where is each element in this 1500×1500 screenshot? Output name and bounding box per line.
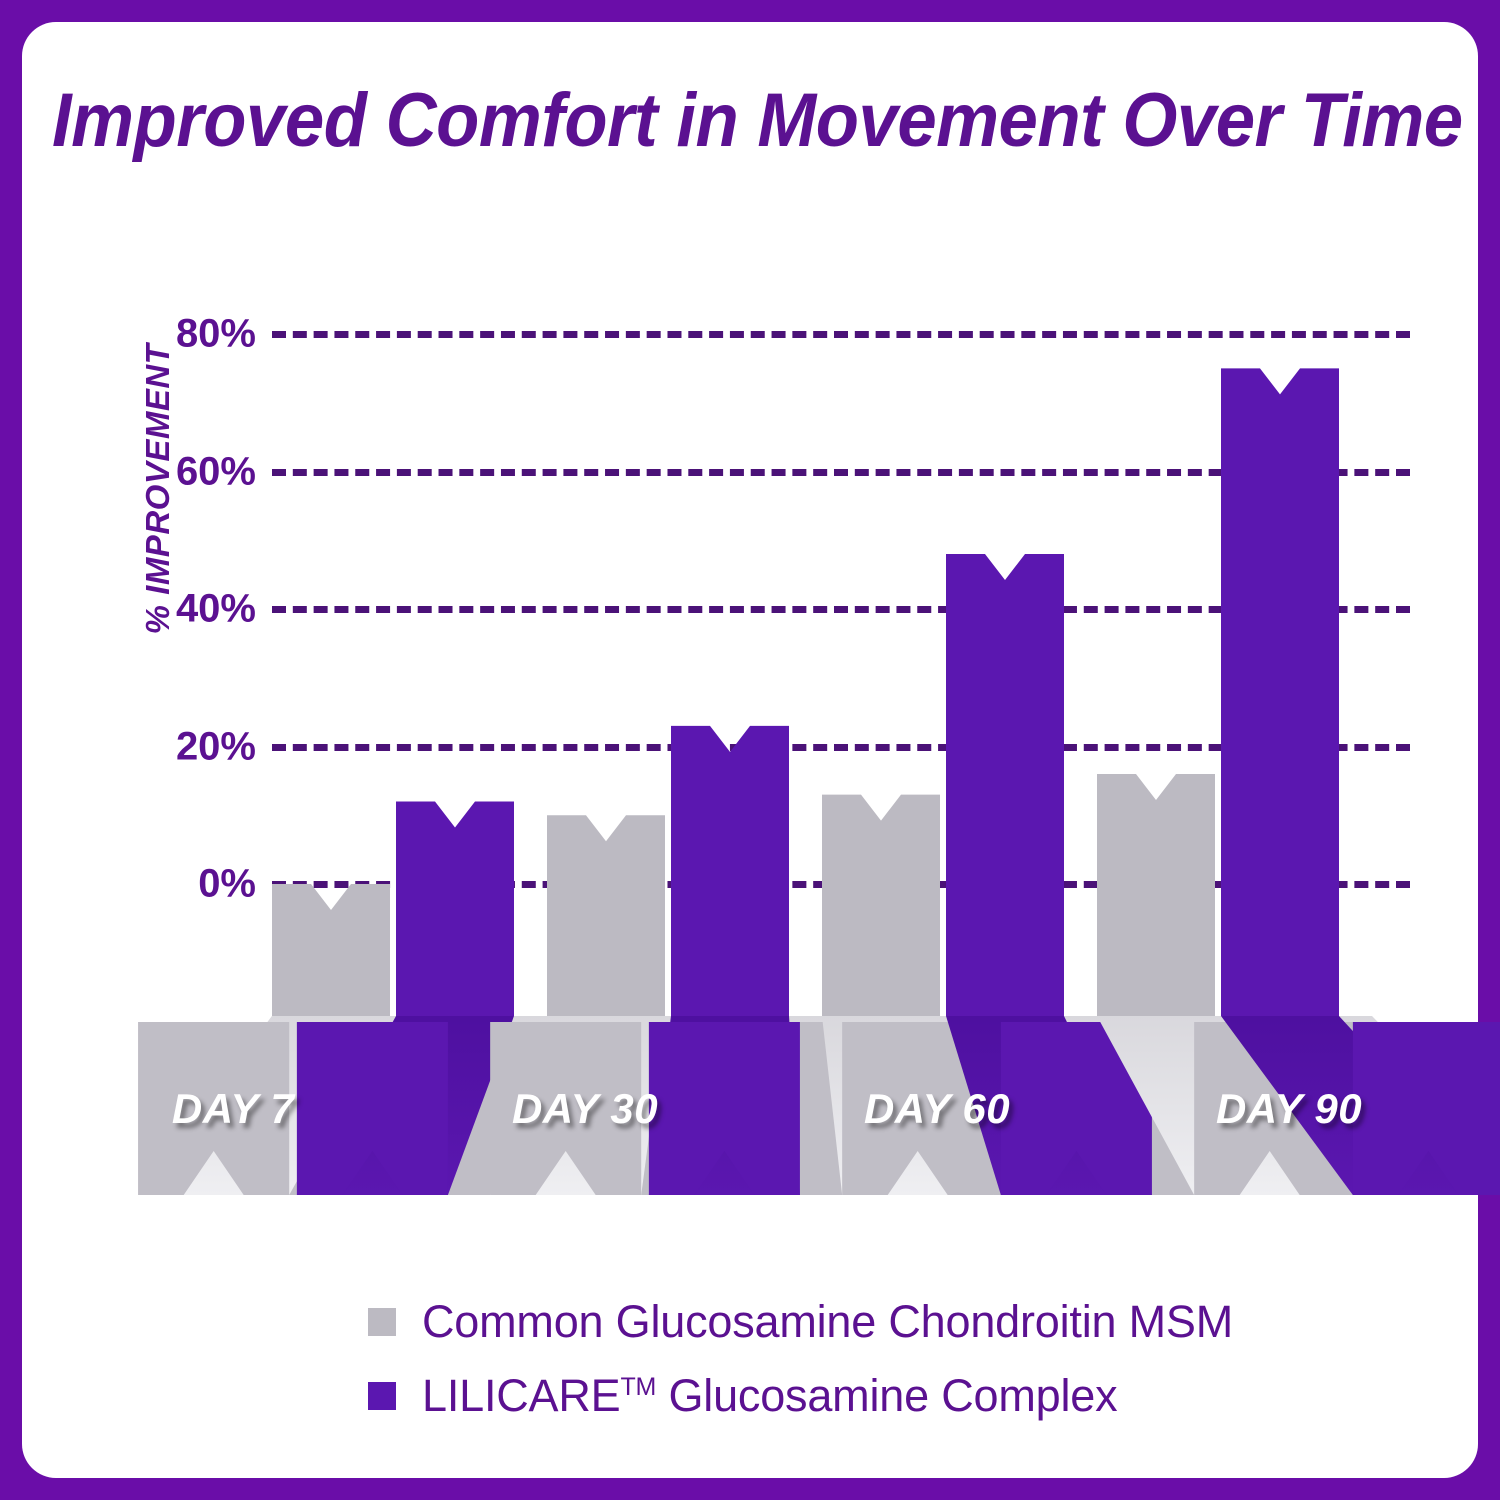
bar-purple-2 — [946, 554, 1064, 1016]
bar-series-group — [0, 0, 1500, 1500]
bar-gray-0 — [272, 884, 390, 1016]
bar-purple-1 — [671, 726, 789, 1016]
legend-swatch-purple — [368, 1382, 396, 1410]
x-axis-label-day-90: DAY 90 — [1216, 1085, 1362, 1133]
x-axis-label-day-7: DAY 7 — [172, 1085, 294, 1133]
legend-label-lilicare: LILICARETM Glucosamine Complex — [422, 1370, 1117, 1422]
infographic-chart-card: Improved Comfort in Movement Over Time %… — [0, 0, 1500, 1500]
chart-legend: Common Glucosamine Chondroitin MSM LILIC… — [368, 1296, 1368, 1444]
bar-gray-2 — [822, 795, 940, 1016]
x-axis-label-day-60: DAY 60 — [864, 1085, 1010, 1133]
bar-purple-0 — [396, 802, 514, 1017]
legend-label-lilicare-main: LILICARE — [422, 1370, 620, 1421]
bar-gray-1 — [547, 815, 665, 1016]
bar-purple-3 — [1221, 368, 1339, 1016]
legend-item-lilicare[interactable]: LILICARETM Glucosamine Complex — [368, 1370, 1368, 1422]
trademark-symbol: TM — [620, 1373, 656, 1401]
legend-item-common[interactable]: Common Glucosamine Chondroitin MSM — [368, 1296, 1368, 1348]
legend-label-lilicare-tail: Glucosamine Complex — [656, 1370, 1117, 1421]
bar-gray-3 — [1097, 774, 1215, 1016]
legend-swatch-gray — [368, 1308, 396, 1336]
x-axis-label-day-30: DAY 30 — [512, 1085, 658, 1133]
legend-label-common: Common Glucosamine Chondroitin MSM — [422, 1296, 1233, 1348]
